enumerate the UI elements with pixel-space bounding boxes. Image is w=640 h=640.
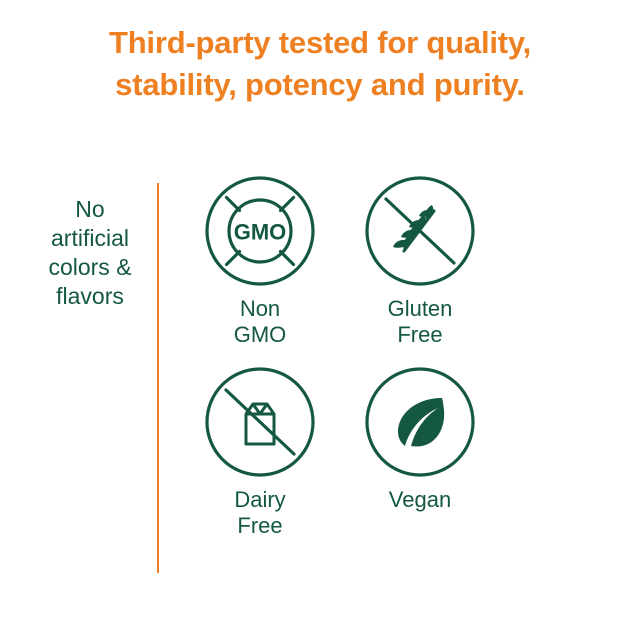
- badge-grid: GMO Non GMO: [180, 175, 500, 539]
- badge-gluten-free-caption: Gluten Free: [388, 296, 453, 348]
- no-artificial-colors-note: No artificial colors & flavors: [34, 195, 146, 311]
- claims-section: No artificial colors & flavors: [0, 175, 640, 595]
- badge-vegan-caption: Vegan: [389, 487, 451, 513]
- badge-non-gmo-caption: Non GMO: [234, 296, 287, 348]
- badge-non-gmo-caption-line-2: GMO: [234, 322, 287, 348]
- non-gmo-inner-label: GMO: [234, 220, 287, 245]
- badge-dairy-free-caption: Dairy Free: [234, 487, 285, 539]
- badge-dairy-free-caption-line-1: Dairy: [234, 487, 285, 513]
- badge-non-gmo-caption-line-1: Non: [234, 296, 287, 322]
- badge-gluten-free-caption-line-2: Free: [388, 322, 453, 348]
- badge-gluten-free: Gluten Free: [340, 175, 500, 348]
- badge-gluten-free-caption-line-1: Gluten: [388, 296, 453, 322]
- badge-row-top: GMO Non GMO: [180, 175, 500, 348]
- badge-non-gmo: GMO Non GMO: [180, 175, 340, 348]
- gluten-free-wheat-icon: [364, 175, 476, 287]
- no-artificial-line-4: flavors: [34, 282, 146, 311]
- badge-dairy-free: Dairy Free: [180, 366, 340, 539]
- no-artificial-line-1: No: [34, 195, 146, 224]
- headline: Third-party tested for quality, stabilit…: [0, 22, 640, 106]
- non-gmo-icon: GMO: [204, 175, 316, 287]
- vertical-divider: [157, 183, 159, 573]
- no-artificial-line-3: colors &: [34, 253, 146, 282]
- badge-vegan-caption-line-1: Vegan: [389, 487, 451, 513]
- badge-vegan: Vegan: [340, 366, 500, 539]
- headline-line-1: Third-party tested for quality,: [0, 22, 640, 64]
- dairy-free-carton-icon: [204, 366, 316, 478]
- badge-dairy-free-caption-line-2: Free: [234, 513, 285, 539]
- headline-line-2: stability, potency and purity.: [0, 64, 640, 106]
- vegan-leaf-icon: [364, 366, 476, 478]
- no-artificial-line-2: artificial: [34, 224, 146, 253]
- badge-row-spacer: [180, 348, 500, 366]
- promo-graphic: Third-party tested for quality, stabilit…: [0, 0, 640, 640]
- badge-row-bottom: Dairy Free Vegan: [180, 366, 500, 539]
